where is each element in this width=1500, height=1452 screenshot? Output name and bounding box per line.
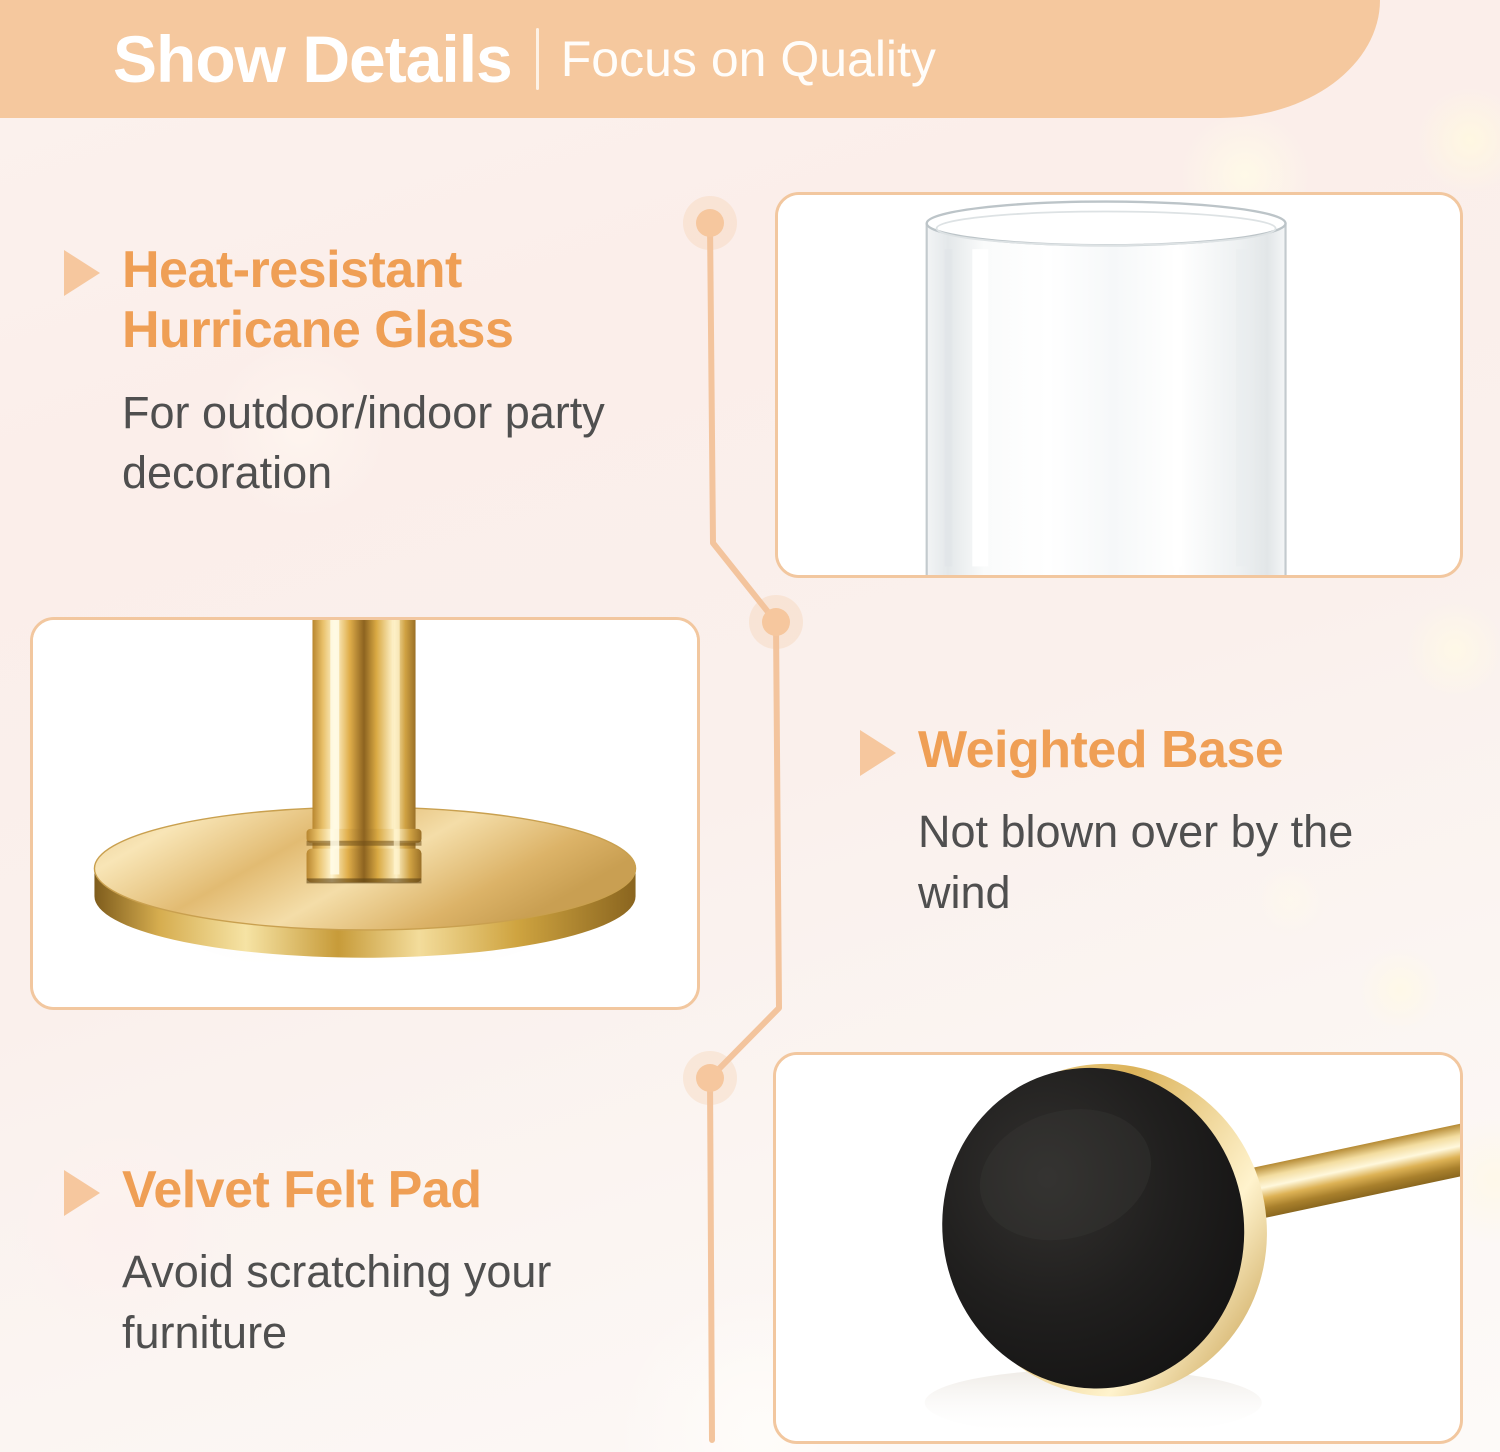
feature-weighted-base: Weighted Base Not blown over by the wind — [860, 720, 1420, 924]
infographic-page: Show Details Focus on Quality Heat-resis… — [0, 0, 1500, 1452]
feature-heading: Heat-resistant Hurricane Glass — [122, 240, 684, 361]
triangle-right-icon — [860, 730, 896, 776]
page-title: Show Details — [113, 26, 512, 92]
header-banner: Show Details Focus on Quality — [0, 0, 1380, 118]
feature-body: For outdoor/indoor party decoration — [122, 383, 684, 505]
velvet-pad-illustration — [776, 1055, 1460, 1441]
feature-heat-resistant-hurricane-glass: Heat-resistant Hurricane Glass For outdo… — [64, 240, 684, 504]
feature-body: Avoid scratching your furniture — [122, 1242, 684, 1364]
glass-cylinder-illustration — [778, 195, 1460, 575]
title-divider — [536, 28, 539, 90]
glass-cylinder-photo — [775, 192, 1463, 578]
feature-body: Not blown over by the wind — [918, 802, 1420, 924]
page-subtitle: Focus on Quality — [561, 34, 936, 84]
triangle-right-icon — [64, 250, 100, 296]
feature-velvet-felt-pad: Velvet Felt Pad Avoid scratching your fu… — [64, 1160, 684, 1364]
feature-heading: Velvet Felt Pad — [122, 1160, 482, 1220]
gold-base-illustration — [33, 620, 697, 1007]
feature-heading: Weighted Base — [918, 720, 1283, 780]
velvet-felt-pad-photo — [773, 1052, 1463, 1444]
gold-weighted-base-photo — [30, 617, 700, 1010]
triangle-right-icon — [64, 1170, 100, 1216]
